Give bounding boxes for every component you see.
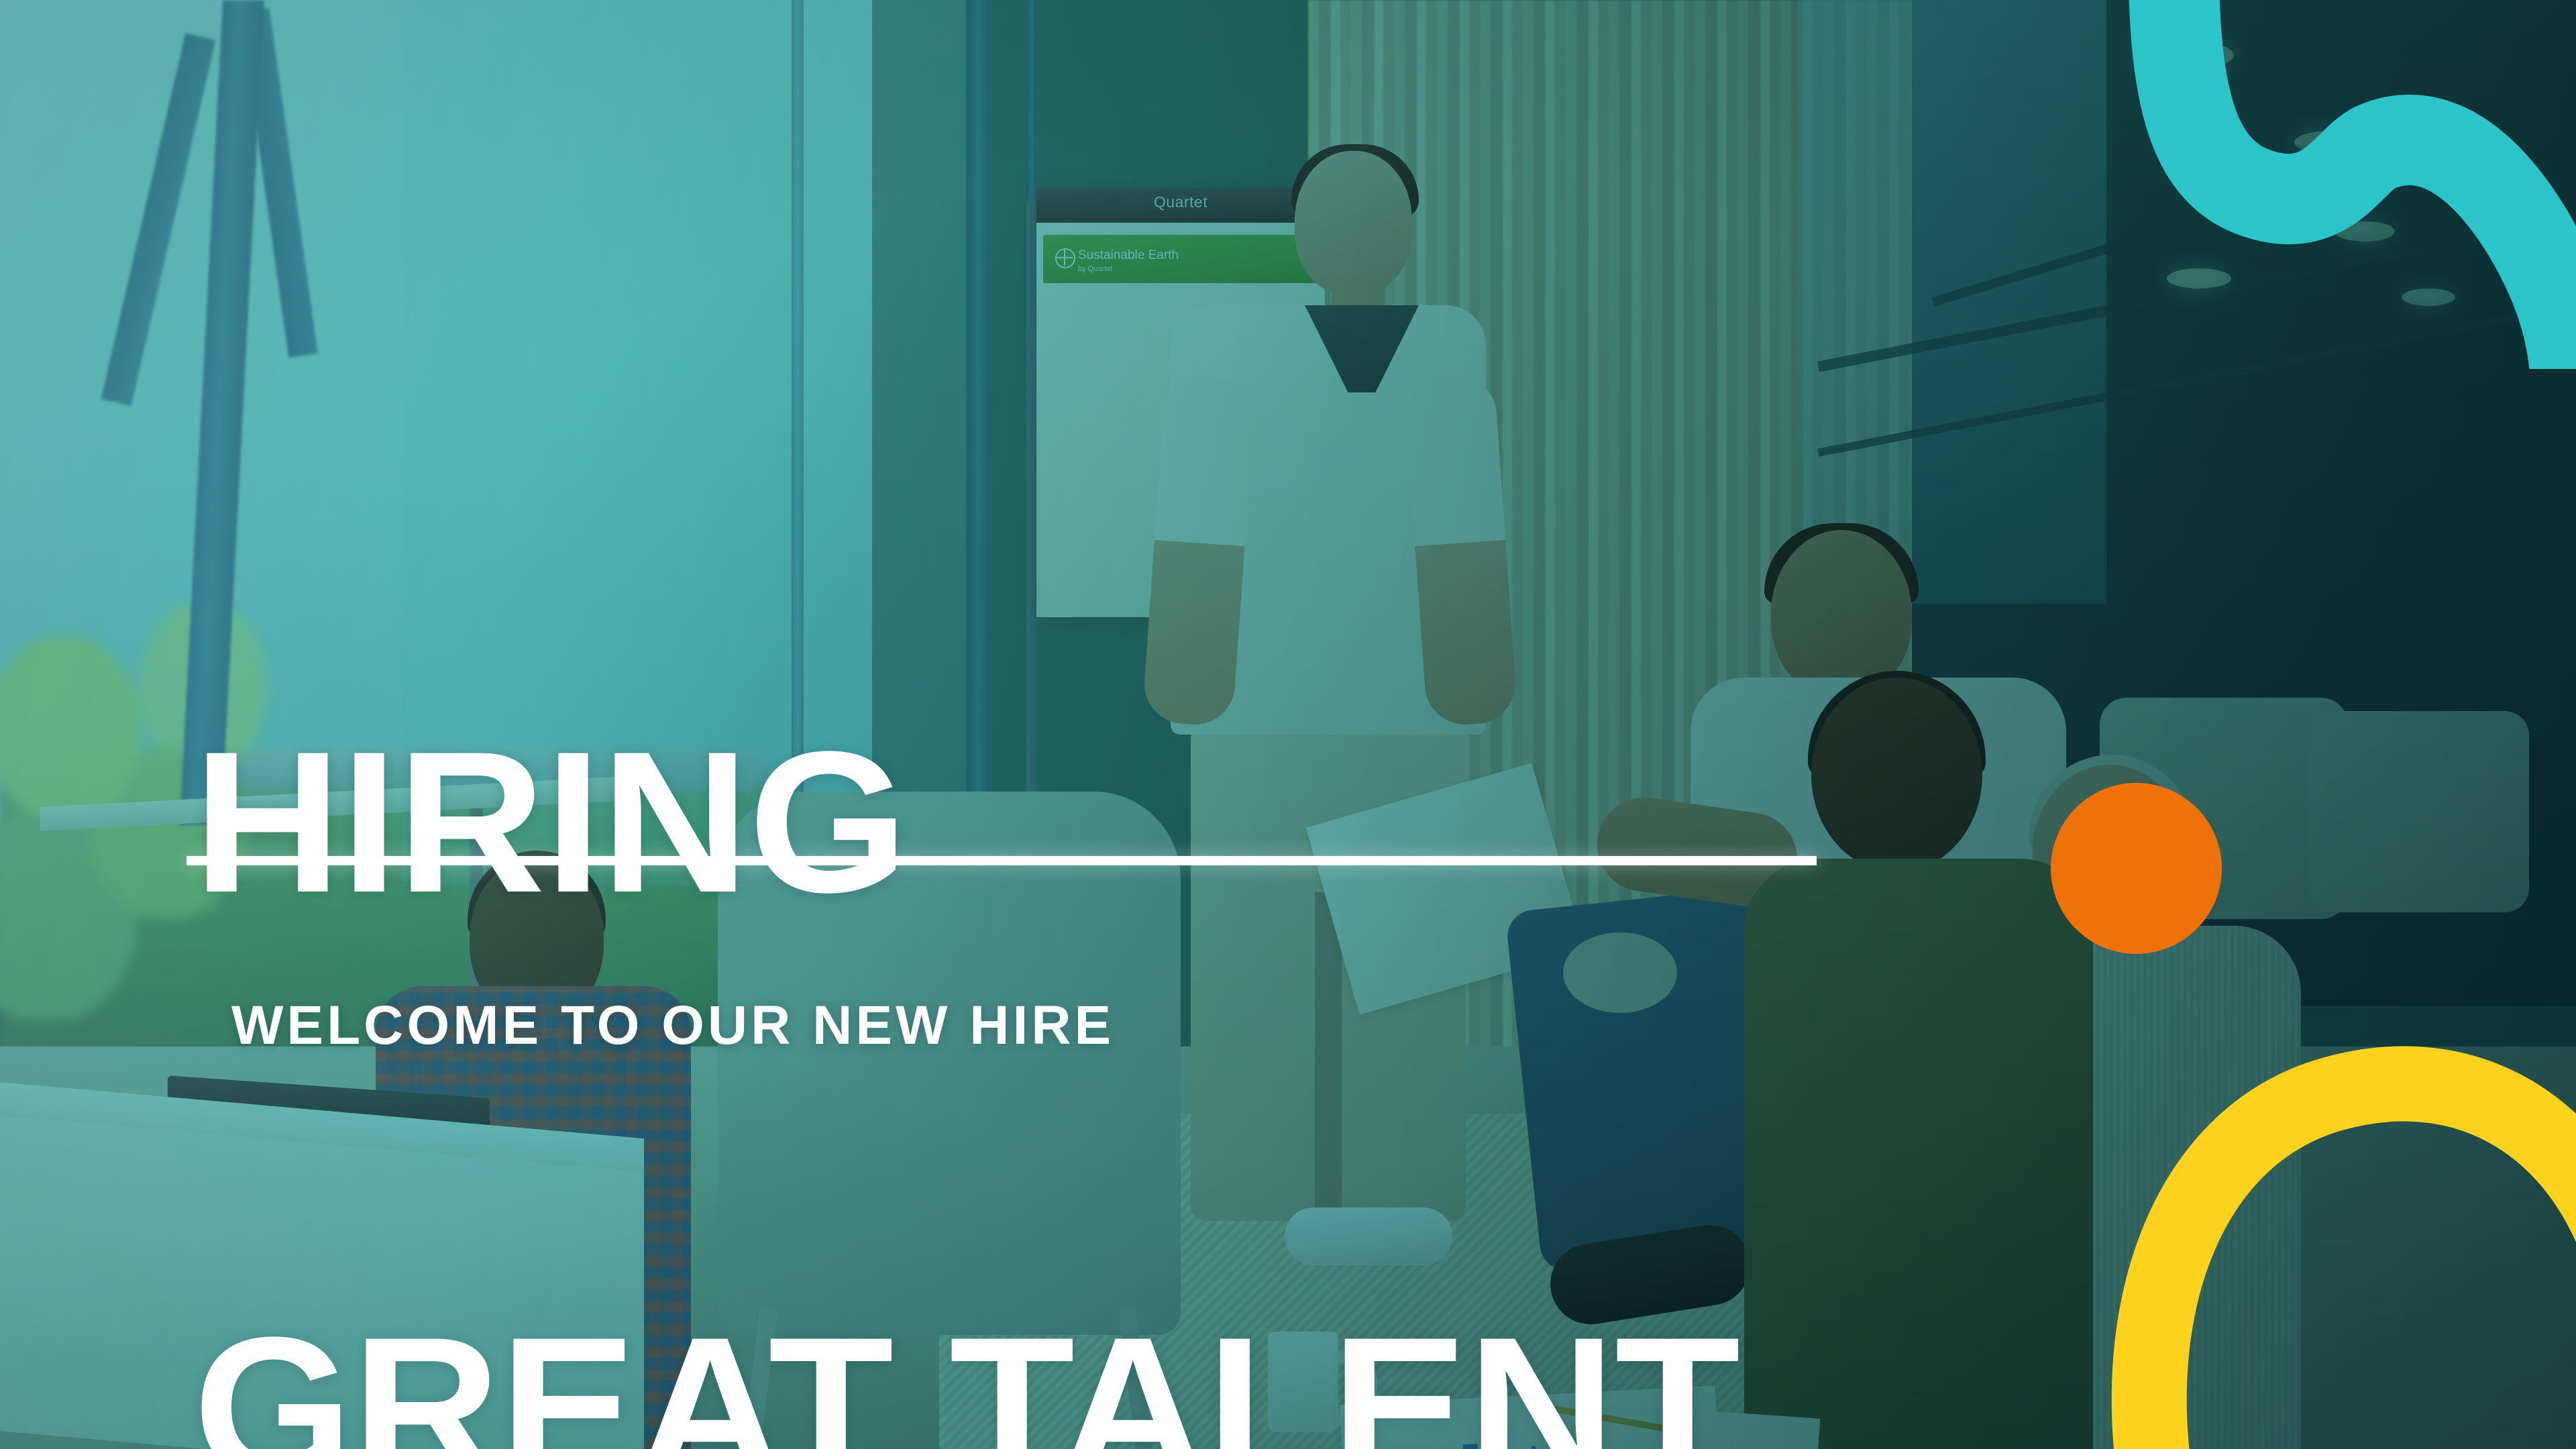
subtitle: WELCOME TO OUR NEW HIRE: [231, 994, 1114, 1057]
headline-line-2: GREAT TALENT: [193, 1310, 1739, 1449]
hiring-poster: Quartet Sustainable Earth by Quartet: [0, 0, 2576, 1449]
divider-rule: [186, 856, 1817, 865]
teal-squiggle-shape: [1972, 0, 2576, 369]
page-title: HIRING GREAT TALENT: [193, 334, 1739, 1449]
yellow-arc-shape: [2086, 1020, 2576, 1449]
headline-line-1: HIRING: [193, 724, 1739, 920]
orange-circle-shape: [2051, 783, 2222, 954]
